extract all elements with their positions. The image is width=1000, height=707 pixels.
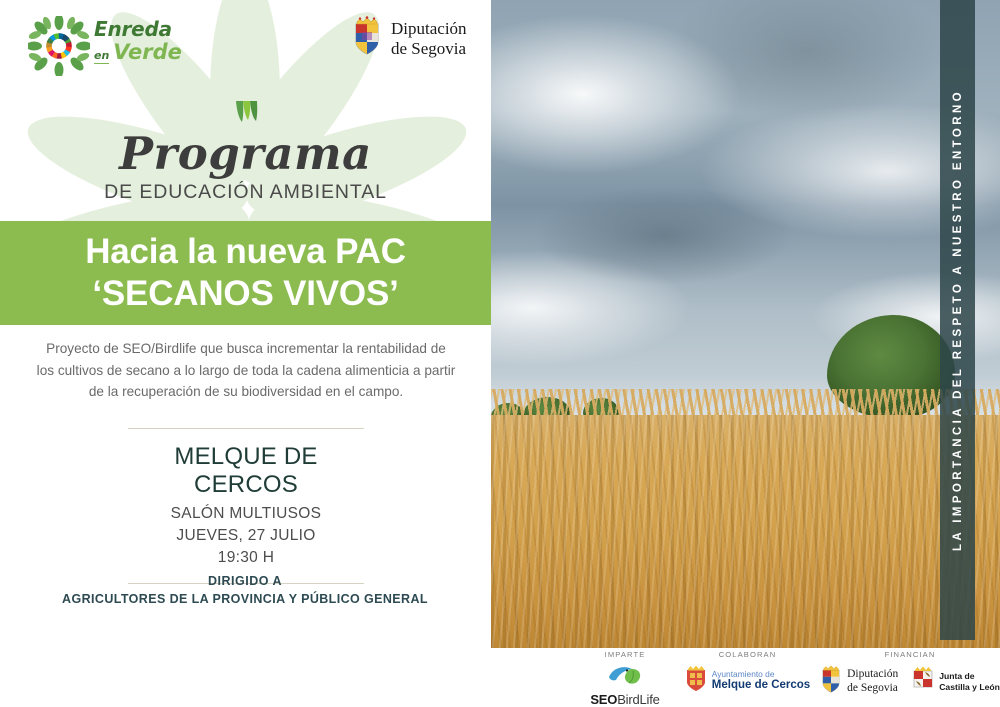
diputacion-footer-line2: de Segovia [847, 682, 898, 696]
leaf-m-icon [231, 96, 261, 126]
event-city: MELQUE DE CERCOS [128, 443, 364, 499]
divider-top [128, 428, 364, 429]
audience-label: DIRIGIDO A [45, 572, 445, 590]
diputacion-segovia-footer-logo: Diputación de Segovia [820, 664, 898, 699]
vertical-tagline-text: LA IMPORTANCIA DEL RESPETO A NUESTRO ENT… [952, 89, 964, 551]
diputacion-footer-line1: Diputación [847, 668, 898, 682]
seo-birdlife-bird-leaf-icon [607, 664, 643, 691]
footer-sponsors: IMPARTE SEO BirdLife [575, 650, 1000, 707]
enreda-line2-big: Verde [113, 41, 182, 63]
event-date: JUEVES, 27 JULIO [128, 525, 364, 547]
seo-light-text: BirdLife [617, 692, 659, 707]
event-time: 19:30 H [128, 547, 364, 569]
event-title-banner: Hacia la nueva PAC ‘SECANOS VIVOS’ [0, 221, 491, 325]
event-title-line2: ‘SECANOS VIVOS’ [92, 273, 398, 315]
program-heading-block: Programa DE EDUCACIÓN AMBIENTAL [0, 96, 491, 204]
enreda-line2-small: en [94, 49, 109, 64]
ayuntamiento-line2: Melque de Cercos [712, 679, 810, 692]
wheat-field-icon [491, 415, 1000, 648]
footer-group-financian: FINANCIAN [820, 650, 1000, 699]
seo-birdlife-logo: SEO BirdLife [590, 664, 659, 707]
audience-block: DIRIGIDO A AGRICULTORES DE LA PROVINCIA … [45, 572, 445, 608]
footer-group-imparte: IMPARTE SEO BirdLife [575, 650, 675, 707]
diputacion-footer-wordmark: Diputación de Segovia [847, 668, 898, 695]
segovia-coat-of-arms-icon [352, 16, 382, 61]
footer-label-colaboran: COLABORAN [719, 650, 777, 659]
footer-label-imparte: IMPARTE [605, 650, 646, 659]
ayuntamiento-wordmark: Ayuntamiento de Melque de Cercos [712, 669, 810, 692]
page-subtitle: DE EDUCACIÓN AMBIENTAL [0, 181, 491, 204]
event-title-line1: Hacia la nueva PAC [85, 231, 406, 273]
wheat-field-photo [491, 0, 1000, 648]
page-title: Programa [0, 128, 491, 180]
diputacion-wordmark: Diputación de Segovia [391, 19, 467, 59]
castilla-y-leon-shield-icon [912, 665, 934, 698]
enreda-line1: Enreda [94, 18, 208, 40]
junta-castilla-leon-logo: Junta de Castilla y León [912, 665, 1000, 698]
project-description: Proyecto de SEO/Birdlife que busca incre… [36, 338, 456, 403]
poster-root: Enreda en Verde [0, 0, 1000, 707]
segovia-coat-of-arms-icon [820, 664, 842, 699]
event-details-block: MELQUE DE CERCOS SALÓN MULTIUSOS JUEVES,… [128, 428, 364, 584]
audience-target: AGRICULTORES DE LA PROVINCIA Y PÚBLICO G… [45, 590, 445, 608]
footer-label-financian: FINANCIAN [885, 650, 936, 659]
vertical-tagline-band: LA IMPORTANCIA DEL RESPETO A NUESTRO ENT… [940, 0, 975, 640]
ayuntamiento-melque-logo: Ayuntamiento de Melque de Cercos [685, 664, 810, 697]
event-venue: SALÓN MULTIUSOS [128, 503, 364, 525]
footer-group-colaboran: COLABORAN Ayuntamiento de Melque de Cerc… [675, 650, 820, 697]
junta-wordmark: Junta de Castilla y León [939, 671, 1000, 692]
enreda-wordmark: Enreda en Verde [94, 18, 208, 64]
junta-line1: Junta de [939, 671, 1000, 682]
diputacion-line1: Diputación [391, 19, 467, 39]
left-content-panel: Enreda en Verde [0, 0, 491, 707]
sdg-wheel-leaves-icon [28, 16, 90, 76]
diputacion-line2: de Segovia [391, 39, 467, 59]
melque-de-cercos-shield-icon [685, 664, 707, 697]
junta-line2: Castilla y León [939, 682, 1000, 693]
top-logo-row: Enreda en Verde [0, 14, 491, 76]
diputacion-segovia-logo: Diputación de Segovia [352, 16, 467, 61]
seo-bold-text: SEO [590, 692, 617, 707]
enreda-en-verde-logo: Enreda en Verde [28, 14, 208, 76]
ayuntamiento-line1: Ayuntamiento de [712, 669, 810, 679]
